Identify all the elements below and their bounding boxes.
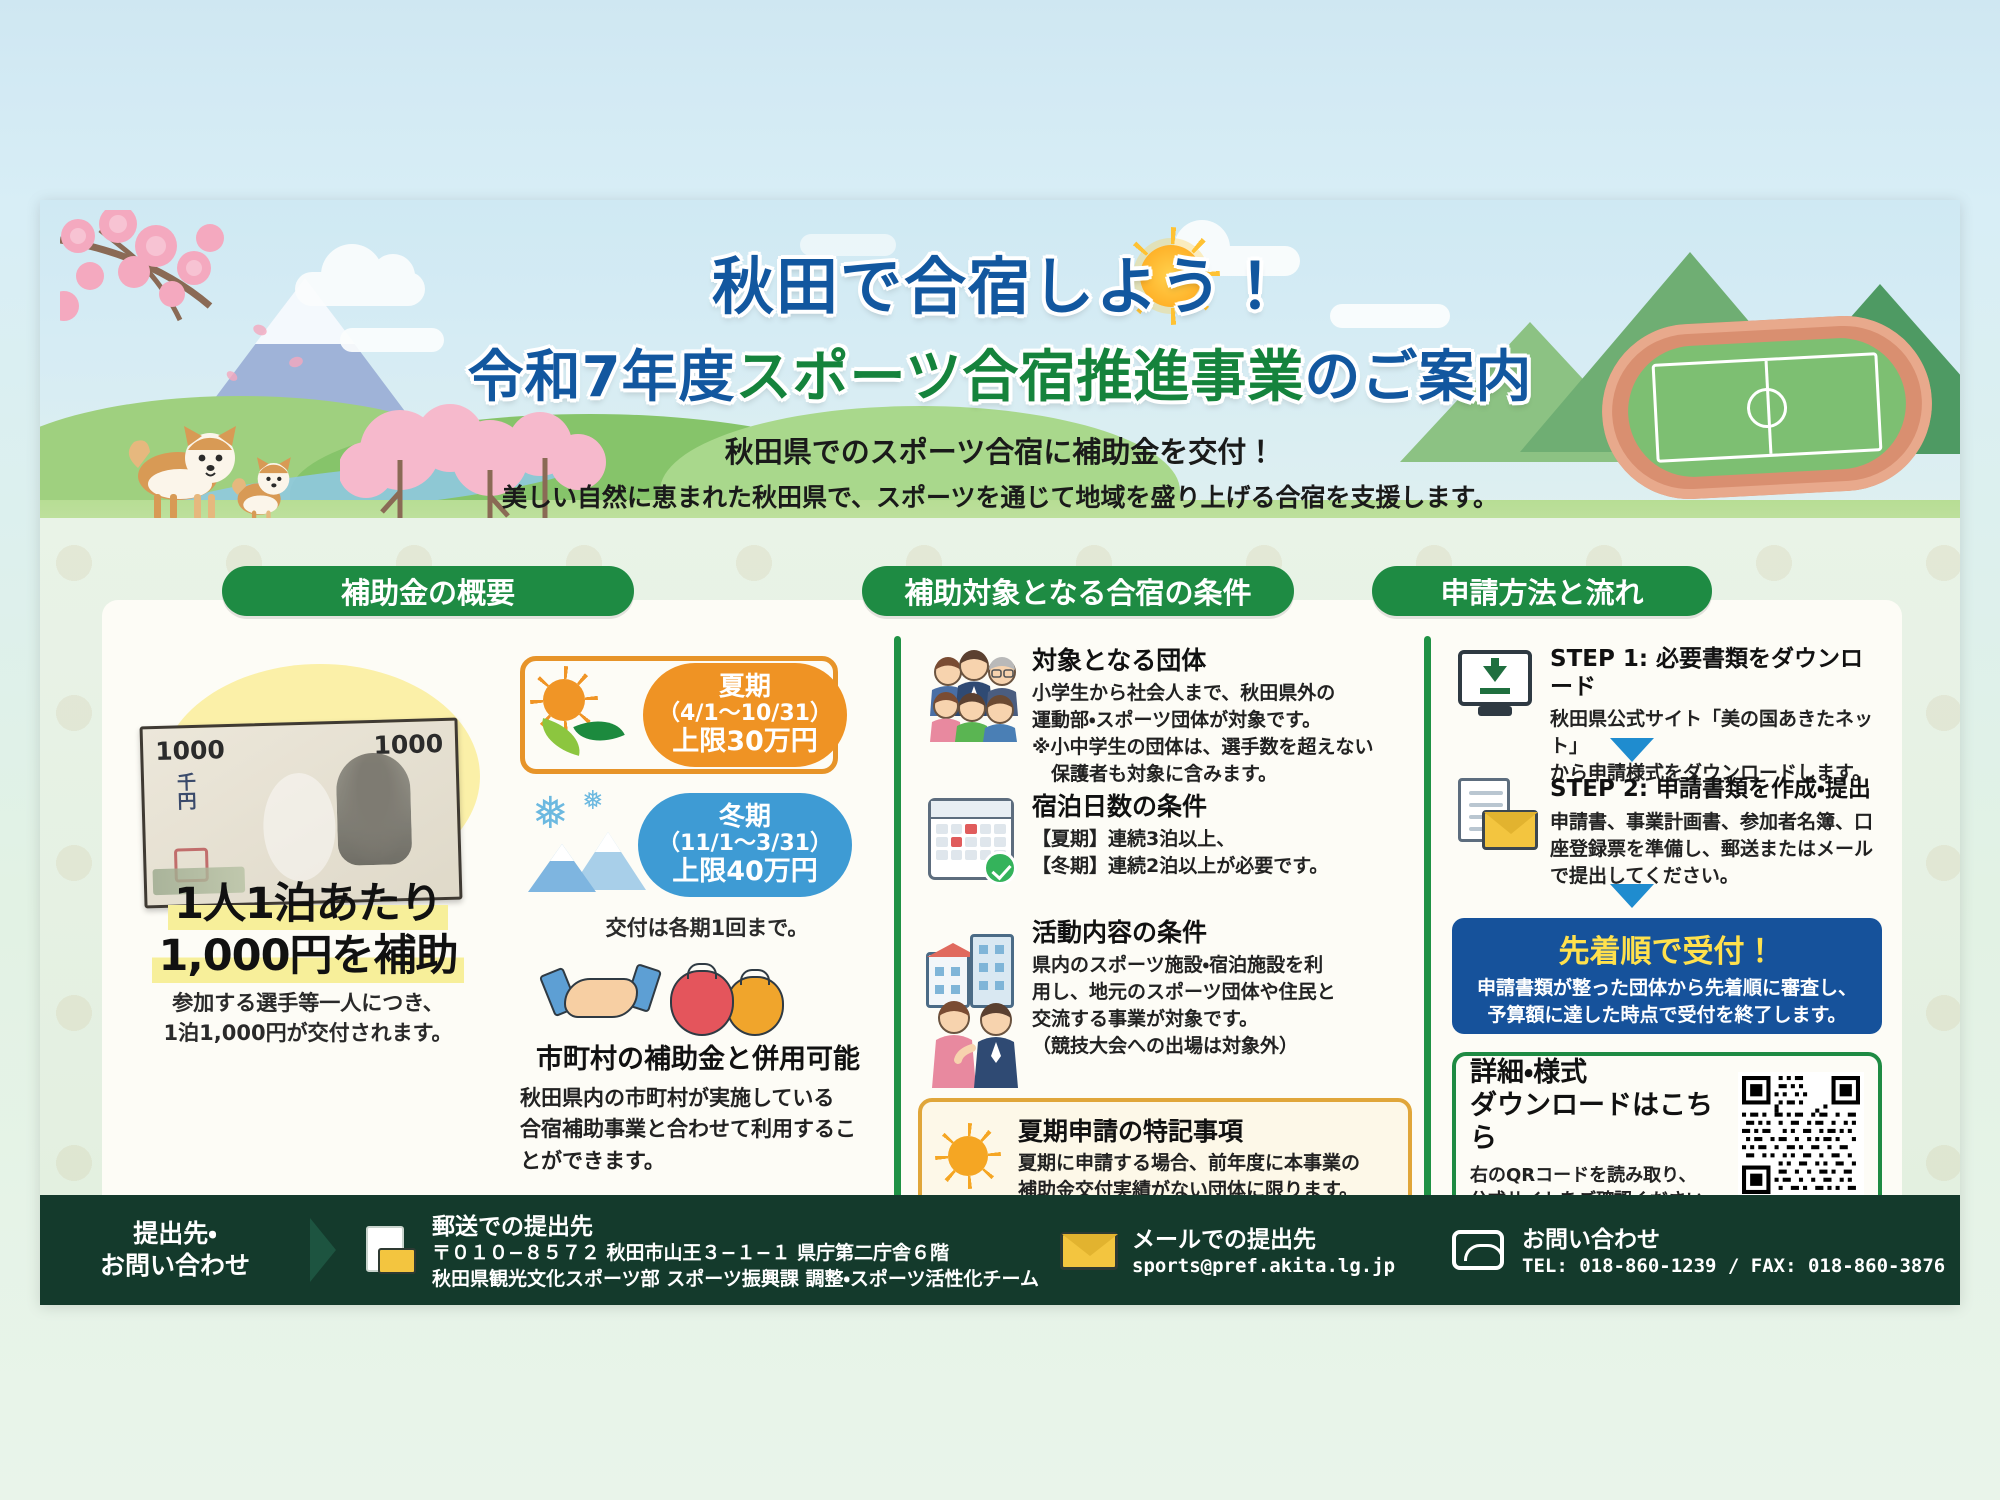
condition-body-line: （競技大会への出場は対象外） — [1032, 1033, 1408, 1060]
footer-mail-heading: メールでの提出先 — [1132, 1220, 1395, 1254]
condition-heading: 活動内容の条件 — [1032, 918, 1408, 948]
footer-postal-line-2: 秋田県観光文化スポーツ部 スポーツ振興課 調整・スポーツ活性化チーム — [432, 1267, 1039, 1293]
condition-body-line: 用し、地元のスポーツ団体や住民と — [1032, 979, 1408, 1006]
winter-period: （11/1〜3/31） — [638, 832, 852, 857]
condition-body-line: ※小中学生の団体は、選手数を超えない — [1032, 734, 1408, 761]
step-heading: STEP 2: 申請書類を作成・提出 — [1550, 776, 1882, 804]
footer-phone-heading: お問い合わせ — [1522, 1220, 1945, 1254]
coin-purse-icon — [726, 976, 784, 1036]
telephone-icon — [1446, 1224, 1508, 1276]
combine-title: 市町村の補助金と併用可能 — [520, 1044, 876, 1076]
combine-body-1: 秋田県内の市町村が実施している — [520, 1083, 876, 1114]
condition-body-line: 交流する事業が対象です。 — [1032, 1006, 1408, 1033]
sun-icon — [543, 679, 585, 721]
summer-cap: 上限30万円 — [643, 727, 847, 757]
footer-phone-block: お問い合わせ TEL: 018-860-1239 / FAX: 018-860-… — [1446, 1220, 1946, 1280]
summer-period: （4/1〜10/31） — [643, 702, 847, 727]
special-body-1: 夏期に申請する場合、前年度に本事業の — [1018, 1150, 1396, 1177]
summer-label: 夏期 — [643, 673, 847, 702]
calendar-check-icon — [922, 792, 1022, 888]
card-application: STEP 1: 必要書類をダウンロード 秋田県公式サイト「美の国あきたネット」 … — [1428, 600, 1902, 1260]
footer-postal-line-1: 〒０１０−８５７２ 秋田市山王３−１−１ 県庁第二庁舎６階 — [432, 1241, 1039, 1267]
snowflake-icon: ❅ — [532, 792, 569, 836]
condition-item-target-groups: 対象となる団体 小学生から社会人まで、秋田県外の 運動部・スポーツ団体が対象です… — [922, 646, 1408, 788]
step-body-line: で提出してください。 — [1550, 863, 1882, 890]
application-step-2: STEP 2: 申請書類を作成・提出 申請書、事業計画書、参加者名簿、口 座登録… — [1452, 776, 1882, 890]
subtitle-program: スポーツ合宿推進事業 — [736, 345, 1305, 410]
card-conditions: 対象となる団体 小学生から社会人まで、秋田県外の 運動部・スポーツ団体が対象です… — [894, 600, 1428, 1260]
qr-download-box[interactable]: 詳細・様式 ダウンロードはこちら 右のQRコードを読み取り、 公式サイトをご確認… — [1452, 1052, 1882, 1218]
combine-body: 秋田県内の市町村が実施している 合宿補助事業と合わせて利用するこ とができます。 — [520, 1083, 876, 1176]
winter-values: 冬期 （11/1〜3/31） 上限40万円 — [638, 793, 852, 897]
handshake-icon — [546, 966, 656, 1026]
divider-right — [1424, 636, 1431, 1234]
qr-heading-1: 詳細・様式 — [1470, 1057, 1738, 1090]
qr-body-1: 右のQRコードを読み取り、 — [1470, 1163, 1738, 1188]
first-come-banner: 先着順で受付！ 申請書類が整った団体から先着順に審査し、 予算額に達した時点で受… — [1452, 918, 1882, 1034]
step-body-line: 秋田県公式サイト「美の国あきたネット」 — [1550, 706, 1882, 760]
qr-code-icon[interactable] — [1738, 1072, 1864, 1198]
subsidy-claim-note: 参加する選手等一人につき、 1泊1,000円が交付されます。 — [128, 988, 488, 1049]
divider-left — [894, 636, 901, 1234]
condition-body-line: 【夏期】連続3泊以上、 — [1032, 826, 1408, 853]
summer-icons — [525, 661, 643, 769]
season-box-winter: ❅ ❅ 冬期 （11/1〜3/31） 上限40万円 — [520, 786, 838, 904]
lead-line-2: 美しい自然に恵まれた秋田県で、スポーツを通じて地域を盛り上げる合宿を支援します。 — [40, 478, 1960, 514]
footer-phone-numbers: TEL: 018-860-1239 / FAX: 018-860-3876 — [1522, 1254, 1945, 1280]
combine-body-2: 合宿補助事業と合わせて利用するこ — [520, 1114, 876, 1145]
footer-left-line-2: お問い合わせ — [40, 1250, 310, 1282]
condition-body-line: 保護者も対象に含みます。 — [1032, 761, 1408, 788]
footer-mail-block[interactable]: メールでの提出先 sports@pref.akita.lg.jp — [1056, 1220, 1446, 1280]
footer-mail-address[interactable]: sports@pref.akita.lg.jp — [1132, 1254, 1395, 1280]
claim-line-1: 1人1泊あたり — [168, 878, 448, 930]
condition-heading: 対象となる団体 — [1032, 646, 1408, 676]
condition-body-line: 県内のスポーツ施設・宿泊施設を利 — [1032, 952, 1408, 979]
banknote-kanji: 千円 — [174, 772, 195, 811]
flow-arrow-icon — [1610, 884, 1654, 908]
grant-frequency-note: 交付は各期1回まで。 — [552, 912, 862, 942]
envelope-icon — [1056, 1224, 1118, 1276]
snowflake-icon: ❅ — [582, 788, 604, 814]
banknote-portrait — [335, 752, 412, 866]
section-pill-overview: 補助金の概要 — [222, 566, 634, 616]
poster-title: 秋田で合宿しよう！ — [40, 236, 1960, 326]
claim-note-1: 参加する選手等一人につき、 — [128, 988, 488, 1018]
content-cards: 1000 1000 千円 1人1泊あたり 1,000円を補助 参加する選手等一人… — [102, 600, 1902, 1260]
footer-postal-block: 郵送での提出先 〒０１０−８５７２ 秋田市山王３−１−１ 県庁第二庁舎６階 秋田… — [356, 1207, 1056, 1293]
check-mark-icon — [983, 851, 1017, 885]
coin-purse-icon — [670, 970, 734, 1036]
condition-item-nights: 宿泊日数の条件 【夏期】連続3泊以上、 【冬期】連続2泊以上が必要です。 — [922, 792, 1408, 888]
subtitle-suffix: のご案内 — [1304, 345, 1532, 410]
condition-body-line: 【冬期】連続2泊以上が必要です。 — [1032, 853, 1408, 880]
footer-contact-bar: 提出先・ お問い合わせ 郵送での提出先 〒０１０−８５７２ 秋田市山王３−１−１… — [40, 1195, 1960, 1305]
claim-line-2: 1,000円を補助 — [152, 930, 463, 982]
season-box-summer: 夏期 （4/1〜10/31） 上限30万円 — [520, 656, 838, 774]
people-talking-icon — [928, 994, 1024, 1094]
winter-icons: ❅ ❅ — [520, 786, 638, 904]
condition-body-line: 運動部・スポーツ団体が対象です。 — [1032, 707, 1408, 734]
special-heading: 夏期申請の特記事項 — [1018, 1112, 1243, 1148]
step-heading: STEP 1: 必要書類をダウンロード — [1550, 646, 1882, 701]
section-pill-conditions: 補助対象となる合宿の条件 — [862, 566, 1294, 616]
section-pill-application: 申請方法と流れ — [1372, 566, 1712, 616]
lead-line-1: 秋田県でのスポーツ合宿に補助金を交付！ — [40, 429, 1960, 471]
document-envelope-icon — [1452, 776, 1538, 860]
document-icon — [356, 1224, 418, 1276]
monitor-download-icon — [1452, 646, 1538, 730]
summer-values: 夏期 （4/1〜10/31） 上限30万円 — [643, 663, 847, 767]
title-block: 秋田で合宿しよう！ 令和7年度スポーツ合宿推進事業のご案内 秋田県でのスポーツ合… — [40, 236, 1960, 514]
subsidy-claim: 1人1泊あたり 1,000円を補助 — [128, 878, 488, 983]
step-body-line: 申請書、事業計画書、参加者名簿、口 — [1550, 809, 1882, 836]
card-overview: 1000 1000 千円 1人1泊あたり 1,000円を補助 参加する選手等一人… — [102, 600, 894, 1260]
first-come-heading: 先着順で受付！ — [1452, 926, 1882, 971]
qr-heading-2: ダウンロードはこちら — [1470, 1090, 1738, 1156]
footer-postal-heading: 郵送での提出先 — [432, 1207, 1039, 1241]
subtitle-year: 令和7年度 — [468, 345, 736, 410]
step-body-line: 座登録票を準備し、郵送またはメール — [1550, 836, 1882, 863]
winter-label: 冬期 — [638, 803, 852, 832]
footer-left-label: 提出先・ お問い合わせ — [40, 1218, 310, 1282]
municipal-combine-block: 市町村の補助金と併用可能 秋田県内の市町村が実施している 合宿補助事業と合わせて… — [520, 952, 876, 1177]
poster-subtitle: 令和7年度スポーツ合宿推進事業のご案内 — [40, 332, 1960, 413]
sun-icon — [948, 1136, 988, 1176]
condition-heading: 宿泊日数の条件 — [1032, 792, 1408, 822]
combine-icons — [520, 952, 876, 1044]
condition-body-line: 小学生から社会人まで、秋田県外の — [1032, 680, 1408, 707]
claim-note-2: 1泊1,000円が交付されます。 — [128, 1018, 488, 1048]
family-group-icon — [922, 646, 1022, 742]
banknote-denom-left: 1000 — [155, 735, 225, 766]
footer-left-line-1: 提出先・ — [40, 1218, 310, 1250]
winter-cap: 上限40万円 — [638, 857, 852, 887]
first-come-body-2: 予算額に達した時点で受付を終了します。 — [1452, 1002, 1882, 1029]
first-come-body-1: 申請書類が整った団体から先着順に審査し、 — [1452, 975, 1882, 1002]
poster-canvas: 秋田で合宿しよう！ 令和7年度スポーツ合宿推進事業のご案内 秋田県でのスポーツ合… — [40, 200, 1960, 1305]
combine-body-3: とができます。 — [520, 1146, 876, 1177]
flow-arrow-icon — [1610, 738, 1654, 762]
application-step-1: STEP 1: 必要書類をダウンロード 秋田県公式サイト「美の国あきたネット」 … — [1452, 646, 1882, 787]
